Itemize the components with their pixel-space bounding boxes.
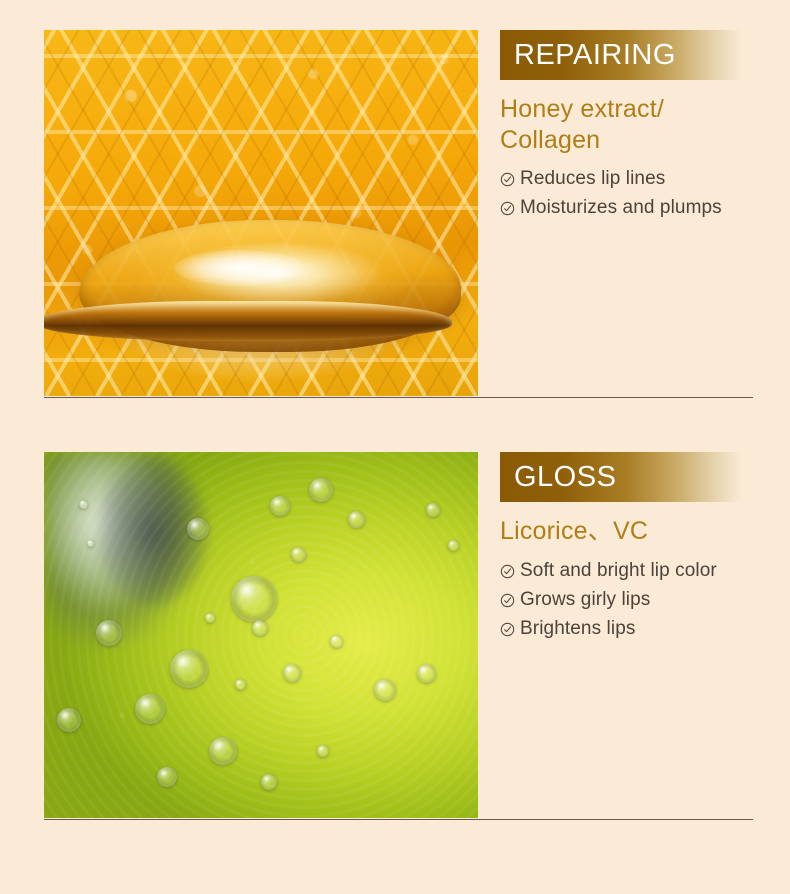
circle-check-icon [500, 622, 515, 637]
benefit-label: Moisturizes and plumps [520, 198, 722, 217]
bubble [309, 478, 333, 502]
gloss-text-column: GLOSS Licorice、VC Soft and bright lip co… [500, 452, 790, 648]
repairing-banner-label: REPAIRING [500, 39, 676, 72]
bubble [157, 767, 177, 787]
bubble [205, 613, 215, 623]
feature-block-gloss: GLOSS Licorice、VC Soft and bright lip co… [0, 452, 790, 820]
gloss-subtitle-line-1: Licorice、VC [500, 516, 790, 547]
bubble [270, 496, 290, 516]
list-item: Grows girly lips [500, 590, 790, 609]
list-item: Moisturizes and plumps [500, 198, 790, 217]
bubble [135, 694, 165, 724]
repairing-subtitle: Honey extract/ Collagen [500, 94, 790, 155]
bubble [374, 679, 396, 701]
bubble [448, 540, 459, 551]
bubble [187, 518, 209, 540]
repairing-banner: REPAIRING [500, 30, 742, 80]
circle-check-icon [500, 564, 515, 579]
spoon-shape [44, 301, 452, 341]
benefit-label: Grows girly lips [520, 590, 650, 609]
bubble [261, 774, 277, 790]
benefit-label: Soft and bright lip color [520, 561, 717, 580]
gloss-banner-label: GLOSS [500, 461, 616, 494]
repairing-subtitle-line-1: Honey extract/ [500, 94, 790, 125]
bubble [235, 679, 246, 690]
gloss-subtitle: Licorice、VC [500, 516, 790, 547]
lime-bubbles-photo [44, 452, 478, 818]
honeycomb-honey-photo [44, 30, 478, 396]
section-divider [44, 819, 753, 820]
circle-check-icon [500, 172, 515, 187]
bubble [348, 511, 365, 528]
repairing-subtitle-line-2: Collagen [500, 125, 790, 156]
honey-image-canvas [44, 30, 478, 396]
list-item: Soft and bright lip color [500, 561, 790, 580]
bubble [283, 664, 301, 682]
feature-block-repairing: REPAIRING Honey extract/ Collagen Reduce… [0, 30, 790, 398]
product-feature-page: REPAIRING Honey extract/ Collagen Reduce… [0, 0, 790, 894]
lime-image-canvas [44, 452, 478, 818]
repairing-text-column: REPAIRING Honey extract/ Collagen Reduce… [500, 30, 790, 227]
gloss-benefit-list: Soft and bright lip color Grows girly li… [500, 561, 790, 638]
list-item: Reduces lip lines [500, 169, 790, 188]
benefit-label: Brightens lips [520, 619, 635, 638]
circle-check-icon [500, 593, 515, 608]
list-item: Brightens lips [500, 619, 790, 638]
honey-specular-highlight [174, 250, 304, 287]
bubble [79, 500, 88, 509]
circle-check-icon [500, 201, 515, 216]
gloss-banner: GLOSS [500, 452, 742, 502]
repairing-benefit-list: Reduces lip lines Moisturizes and plumps [500, 169, 790, 217]
bubble [231, 576, 277, 622]
benefit-label: Reduces lip lines [520, 169, 665, 188]
bubble [170, 650, 208, 688]
section-divider [44, 397, 753, 398]
